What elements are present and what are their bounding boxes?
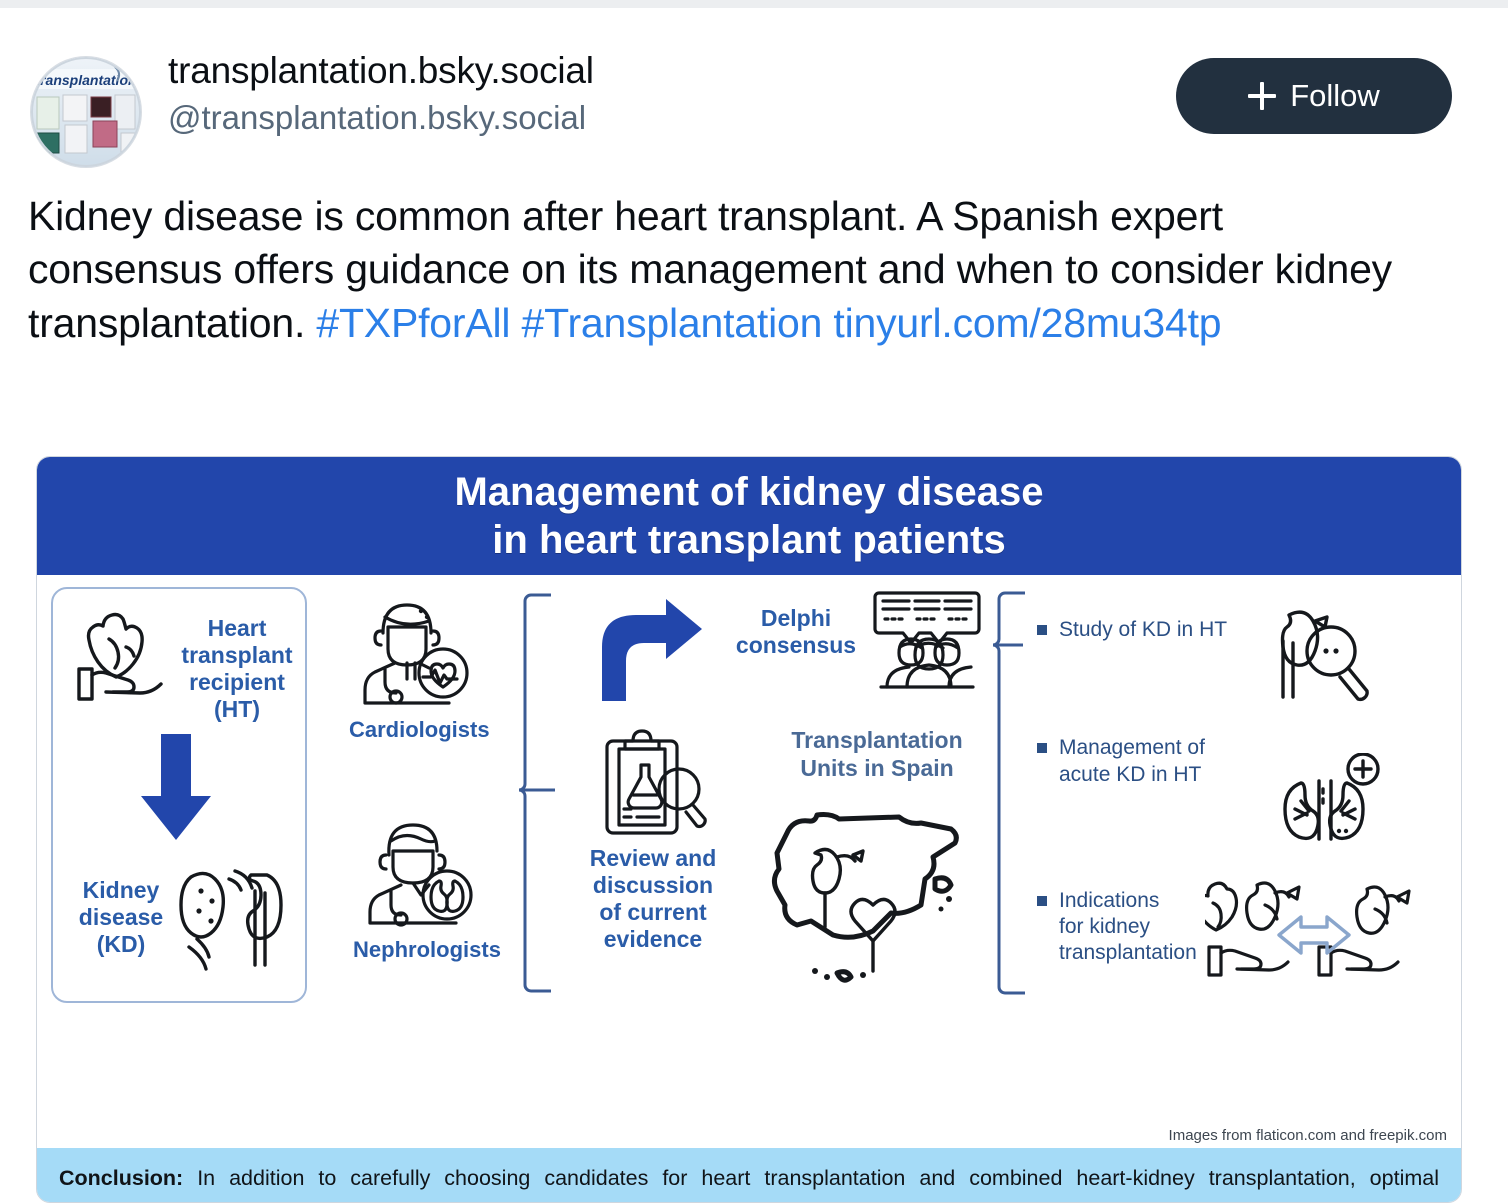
post-card: transplantation transplantation.bsky.soc…	[0, 8, 1508, 1201]
conclusion-body: In addition to carefully choosing candid…	[59, 1166, 1439, 1203]
hashtag-transplantation[interactable]: #Transplantation	[522, 300, 823, 346]
post-text: Kidney disease is common after heart tra…	[28, 190, 1408, 350]
heart-kidney-exchange-icon	[1205, 875, 1455, 987]
outcome-label-study: Study of KD in HT	[1059, 617, 1227, 643]
clipboard-magnifier-icon	[597, 727, 707, 839]
cardiologists-label: Cardiologists	[349, 717, 489, 743]
bullet-square-icon	[1037, 896, 1047, 906]
delphi-consensus-label: Delphi consensus	[723, 605, 869, 659]
group-discussion-icon	[871, 587, 983, 693]
cardiologist-icon	[355, 597, 473, 709]
post-header: transplantation transplantation.bsky.soc…	[28, 46, 1480, 164]
journal-cover-thumbnail-icon: transplantation	[31, 57, 141, 167]
right-brace-icon	[989, 589, 1035, 1003]
outcome-label-indications: Indications for kidney transplantation	[1059, 888, 1197, 967]
spain-units-label: Transplantation Units in Spain	[777, 727, 977, 782]
outcome-label-management: Management of acute KD in HT	[1059, 735, 1205, 788]
heart-in-hand-icon	[71, 611, 181, 716]
image-credit: Images from flaticon.com and freepik.com	[1169, 1127, 1447, 1144]
infographic-body: Heart transplant recipient (HT) Kidney d…	[37, 575, 1461, 1030]
outcome-item-management: Management of acute KD in HT	[1037, 735, 1287, 788]
follow-button[interactable]: Follow	[1176, 58, 1452, 134]
spain-map-icon	[763, 793, 973, 993]
infographic-title-line2: in heart transplant patients	[492, 516, 1005, 564]
nephrologists-label: Nephrologists	[347, 937, 507, 963]
outcome-item-study: Study of KD in HT	[1037, 617, 1287, 643]
infographic-title-line1: Management of kidney disease	[454, 468, 1043, 516]
down-arrow-icon	[138, 734, 214, 842]
ht-kd-panel: Heart transplant recipient (HT) Kidney d…	[51, 587, 307, 1003]
svg-text:transplantation: transplantation	[35, 72, 136, 88]
account-handle: @transplantation.bsky.social	[168, 98, 594, 138]
avatar[interactable]: transplantation	[30, 56, 142, 168]
kd-label: Kidney disease (KD)	[65, 877, 177, 958]
account-display-name: transplantation.bsky.social	[168, 50, 594, 93]
kidneys-plus-icon	[1275, 753, 1385, 853]
top-scroll-strip	[0, 0, 1508, 8]
infographic-banner: Management of kidney disease in heart tr…	[37, 457, 1461, 575]
plus-icon	[1248, 82, 1276, 110]
ht-label: Heart transplant recipient (HT)	[181, 615, 293, 724]
conclusion-heading: Conclusion:	[59, 1166, 183, 1190]
follow-button-label: Follow	[1290, 78, 1380, 114]
nephrologist-icon	[359, 815, 477, 927]
conclusion-box: Conclusion: In addition to carefully cho…	[37, 1148, 1461, 1203]
diseased-kidney-icon	[179, 861, 291, 971]
left-brace-icon	[515, 591, 561, 1001]
bullet-square-icon	[1037, 625, 1047, 635]
infographic-card[interactable]: Management of kidney disease in heart tr…	[36, 456, 1462, 1203]
bullet-square-icon	[1037, 743, 1047, 753]
hashtag-txpforall[interactable]: #TXPforAll	[316, 300, 510, 346]
kidney-magnifier-icon	[1269, 605, 1379, 703]
post-link[interactable]: tinyurl.com/28mu34tp	[833, 300, 1221, 346]
curved-arrow-icon	[590, 597, 706, 707]
review-evidence-label: Review and discussion of current evidenc…	[573, 845, 733, 954]
account-name-block[interactable]: transplantation.bsky.social @transplanta…	[168, 50, 594, 138]
